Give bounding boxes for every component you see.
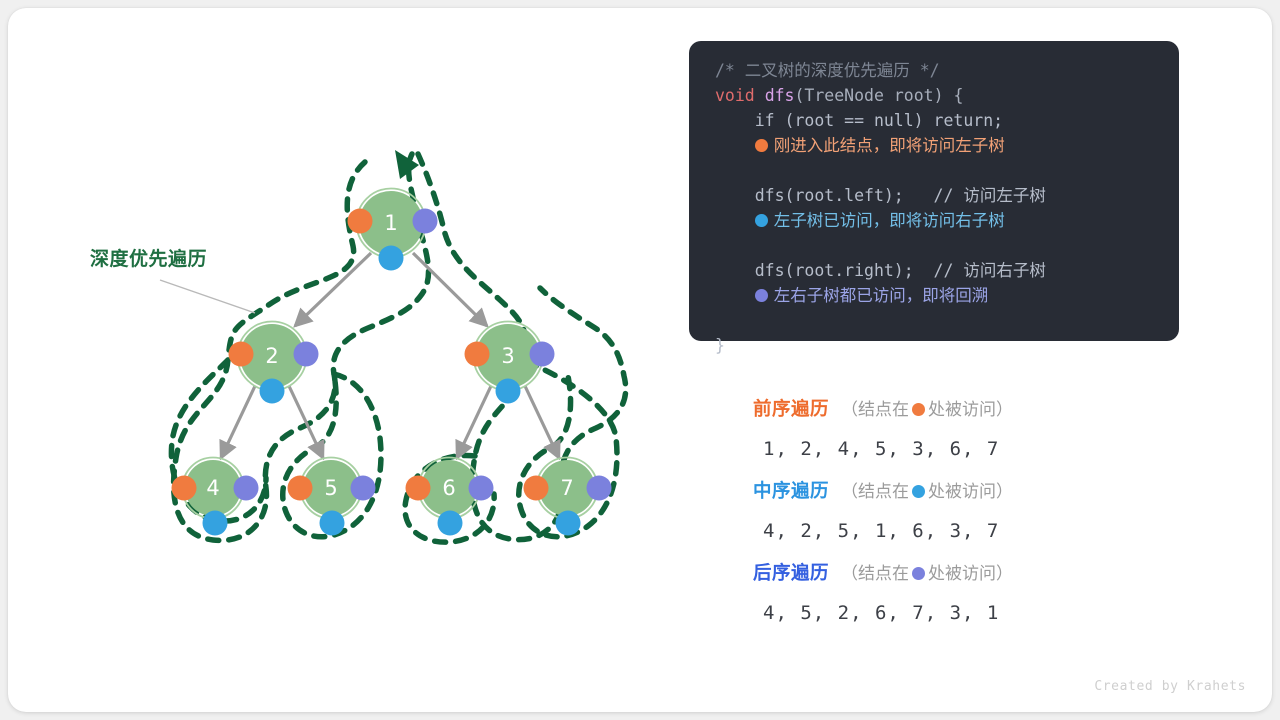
- marker-post-7: [587, 476, 612, 501]
- traversal-results: 前序遍历（结点在处被访问） 1, 2, 4, 5, 3, 6, 7 中序遍历（结…: [753, 390, 1173, 636]
- preorder-marker-icon: [912, 403, 925, 416]
- preorder-note-prefix: （结点在: [841, 400, 909, 419]
- result-block-preorder: 前序遍历（结点在处被访问） 1, 2, 4, 5, 3, 6, 7: [753, 390, 1173, 469]
- marker-pre-7: [524, 476, 549, 501]
- result-block-inorder: 中序遍历（结点在处被访问） 4, 2, 5, 1, 6, 3, 7: [753, 472, 1173, 551]
- code-dfs-left-line: dfs(root.left); // 访问左子树: [715, 186, 1046, 205]
- code-null-check-line: if (root == null) return;: [715, 111, 1003, 130]
- marker-post-2: [294, 342, 319, 367]
- marker-in-6: [438, 511, 463, 536]
- edge-3-7: [525, 386, 559, 458]
- marker-in-3: [496, 379, 521, 404]
- code-function-name: dfs: [765, 86, 795, 105]
- edge-2-5: [289, 386, 323, 458]
- marker-pre-6: [406, 476, 431, 501]
- marker-in-4: [203, 511, 228, 536]
- inorder-heading: 中序遍历（结点在处被访问）: [753, 472, 1173, 511]
- edge-2-4: [221, 386, 255, 458]
- marker-post-1: [413, 209, 438, 234]
- tree-node-7[interactable]: [524, 458, 612, 536]
- marker-in-2: [260, 379, 285, 404]
- marker-pre-5: [288, 476, 313, 501]
- tree-node-1[interactable]: [348, 189, 438, 271]
- postorder-marker-icon: [912, 567, 925, 580]
- code-block: /* 二叉树的深度优先遍历 */ void dfs(TreeNode root)…: [715, 58, 1153, 358]
- code-keyword-void: void: [715, 86, 755, 105]
- preorder-note-suffix: 处被访问）: [928, 400, 1013, 419]
- code-closing-brace: }: [715, 336, 725, 355]
- figure-canvas: 1 2 3 4 5 6 7 深度优先遍历 /* 二叉树的深度优先遍历 */ vo…: [8, 8, 1272, 712]
- inorder-sequence: 4, 2, 5, 1, 6, 3, 7: [763, 511, 1173, 551]
- credit-text: Created by Krahets: [1094, 679, 1246, 694]
- binary-tree-diagram: 1 2 3 4 5 6 7 深度优先遍历: [8, 8, 680, 712]
- inorder-note-suffix: 处被访问）: [928, 482, 1013, 501]
- edge-1-2: [295, 253, 371, 326]
- marker-pre-4: [172, 476, 197, 501]
- postorder-note-suffix: 处被访问）: [928, 564, 1013, 583]
- marker-in-5: [320, 511, 345, 536]
- inorder-marker-icon: [912, 485, 925, 498]
- postorder-title: 后序遍历: [753, 562, 829, 583]
- code-snippet-card: /* 二叉树的深度优先遍历 */ void dfs(TreeNode root)…: [689, 41, 1179, 341]
- inorder-note-prefix: （结点在: [841, 482, 909, 501]
- preorder-title: 前序遍历: [753, 398, 829, 419]
- marker-post-3: [530, 342, 555, 367]
- tree-node-2[interactable]: [229, 322, 319, 404]
- marker-post-5: [351, 476, 376, 501]
- tree-node-3[interactable]: [465, 322, 555, 404]
- tree-node-5[interactable]: [288, 458, 376, 536]
- marker-pre-3: [465, 342, 490, 367]
- annotation-leader-line: [160, 280, 255, 313]
- edge-3-6: [457, 386, 491, 458]
- marker-in-7: [556, 511, 581, 536]
- postorder-note-prefix: （结点在: [841, 564, 909, 583]
- code-comment-line: /* 二叉树的深度优先遍历 */: [715, 61, 940, 80]
- code-note-pre: 刚进入此结点，即将访问左子树: [774, 136, 1005, 155]
- result-block-postorder: 后序遍历（结点在处被访问） 4, 5, 2, 6, 7, 3, 1: [753, 554, 1173, 633]
- postorder-heading: 后序遍历（结点在处被访问）: [753, 554, 1173, 593]
- marker-post-6: [469, 476, 494, 501]
- marker-in-1: [379, 246, 404, 271]
- marker-pre-2: [229, 342, 254, 367]
- code-marker-in-icon: [755, 214, 768, 227]
- tree-svg: [8, 8, 680, 712]
- code-signature-rest: (TreeNode root) {: [795, 86, 964, 105]
- code-marker-pre-icon: [755, 139, 768, 152]
- code-dfs-right-line: dfs(root.right); // 访问右子树: [715, 261, 1046, 280]
- marker-pre-1: [348, 209, 373, 234]
- code-marker-post-icon: [755, 289, 768, 302]
- dfs-annotation-label: 深度优先遍历: [90, 244, 207, 271]
- preorder-heading: 前序遍历（结点在处被访问）: [753, 390, 1173, 429]
- code-note-post: 左右子树都已访问，即将回溯: [774, 286, 989, 305]
- code-note-in: 左子树已访问，即将访问右子树: [774, 211, 1005, 230]
- preorder-sequence: 1, 2, 4, 5, 3, 6, 7: [763, 429, 1173, 469]
- inorder-title: 中序遍历: [753, 480, 829, 501]
- marker-post-4: [234, 476, 259, 501]
- postorder-sequence: 4, 5, 2, 6, 7, 3, 1: [763, 593, 1173, 633]
